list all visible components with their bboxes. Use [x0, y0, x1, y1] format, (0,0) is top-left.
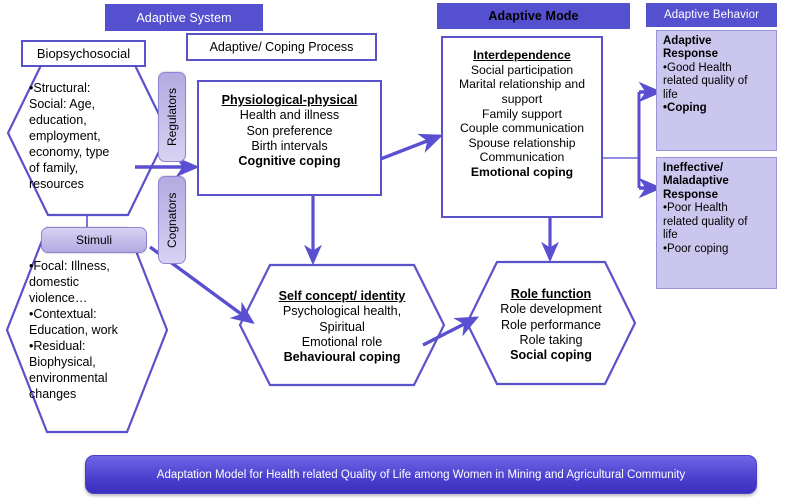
self-concept-item-1: Spiritual [243, 320, 441, 335]
card-adaptive-response: Adaptive Response •Good Health related q… [656, 30, 777, 151]
bps-line-2: education, [29, 112, 147, 128]
interdependence-item-4: Couple communication [442, 121, 602, 136]
title-banner: Adaptation Model for Health related Qual… [85, 455, 757, 494]
header-adaptive-mode: Adaptive Mode [437, 3, 630, 29]
physiological-coping: Cognitive coping [199, 154, 380, 169]
pill-regulators: Regulators [158, 72, 186, 162]
interdependence-item-0: Social participation [442, 63, 602, 78]
adaptive-response-title-1: Response [663, 48, 771, 61]
stim-line-0: •Focal: Illness, [29, 258, 153, 274]
stim-line-2: violence… [29, 290, 153, 306]
header-adaptive-behavior: Adaptive Behavior [646, 3, 777, 27]
text-interdependence: Interdependence Social participation Mar… [442, 48, 602, 180]
text-physiological-physical: Physiological-physical Health and illnes… [199, 93, 380, 170]
physiological-item-1: Son preference [199, 124, 380, 139]
stim-line-7: environmental [29, 370, 153, 386]
label-stimuli: Stimuli [41, 227, 147, 253]
interdependence-item-6: Communication [442, 150, 602, 165]
adaptive-response-bullet-1: related quality of [663, 75, 771, 88]
arrow-physiological-to-interdependence [378, 136, 440, 160]
role-function-coping: Social coping [473, 348, 629, 363]
role-function-item-1: Role performance [473, 318, 629, 333]
pill-cognators: Cognators [158, 176, 186, 264]
bps-line-5: of family, [29, 160, 147, 176]
interdependence-item-5: Spouse relationship [442, 136, 602, 151]
adaptive-response-title-0: Adaptive [663, 35, 771, 48]
self-concept-item-2: Emotional role [243, 335, 441, 350]
bps-line-6: resources [29, 176, 147, 192]
header-adaptive-system: Adaptive System [105, 4, 263, 31]
self-concept-heading: Self concept/ identity [243, 289, 441, 304]
label-biopsychosocial: Biopsychosocial [21, 40, 146, 67]
maladaptive-bullet-1: related quality of [663, 216, 771, 229]
stim-line-8: changes [29, 386, 153, 402]
stim-line-5: •Residual: [29, 338, 153, 354]
role-function-heading: Role function [473, 287, 629, 302]
diagram-canvas: Adaptive System Adaptive/ Coping Process… [0, 0, 785, 499]
interdependence-coping: Emotional coping [442, 165, 602, 180]
header-adaptive-coping-process: Adaptive/ Coping Process [186, 33, 377, 61]
interdependence-item-3: Family support [442, 107, 602, 122]
text-role-function: Role function Role development Role perf… [473, 287, 629, 364]
maladaptive-bullet-2: life [663, 229, 771, 242]
maladaptive-bullet-3: •Poor coping [663, 243, 771, 256]
bps-line-1: Social: Age, [29, 96, 147, 112]
bps-line-0: •Structural: [29, 80, 147, 96]
maladaptive-bullet-0: •Poor Health [663, 202, 771, 215]
text-biopsychosocial-body: •Structural: Social: Age, education, emp… [29, 80, 147, 192]
adaptive-response-bullet-0: •Good Health [663, 62, 771, 75]
card-maladaptive-response: Ineffective/ Maladaptive Response •Poor … [656, 157, 777, 289]
physiological-item-0: Health and illness [199, 108, 380, 123]
interdependence-item-1: Marital relationship and [442, 77, 602, 92]
maladaptive-title-2: Response [663, 189, 771, 202]
self-concept-coping: Behavioural coping [243, 350, 441, 365]
text-self-concept: Self concept/ identity Psychological hea… [243, 289, 441, 366]
role-function-item-2: Role taking [473, 333, 629, 348]
physiological-heading: Physiological-physical [199, 93, 380, 108]
text-stimuli-body: •Focal: Illness, domestic violence… •Con… [29, 258, 153, 402]
interdependence-heading: Interdependence [442, 48, 602, 63]
bps-line-3: employment, [29, 128, 147, 144]
adaptive-response-bullet-2: life [663, 89, 771, 102]
interdependence-item-2: support [442, 92, 602, 107]
adaptive-response-bold-bullet: •Coping [663, 102, 771, 115]
stim-line-3: •Contextual: [29, 306, 153, 322]
bps-line-4: economy, type [29, 144, 147, 160]
stim-line-6: Biophysical, [29, 354, 153, 370]
self-concept-item-0: Psychological health, [243, 304, 441, 319]
maladaptive-title-1: Maladaptive [663, 175, 771, 188]
stim-line-4: Education, work [29, 322, 153, 338]
physiological-item-2: Birth intervals [199, 139, 380, 154]
stim-line-1: domestic [29, 274, 153, 290]
role-function-item-0: Role development [473, 302, 629, 317]
maladaptive-title-0: Ineffective/ [663, 162, 771, 175]
